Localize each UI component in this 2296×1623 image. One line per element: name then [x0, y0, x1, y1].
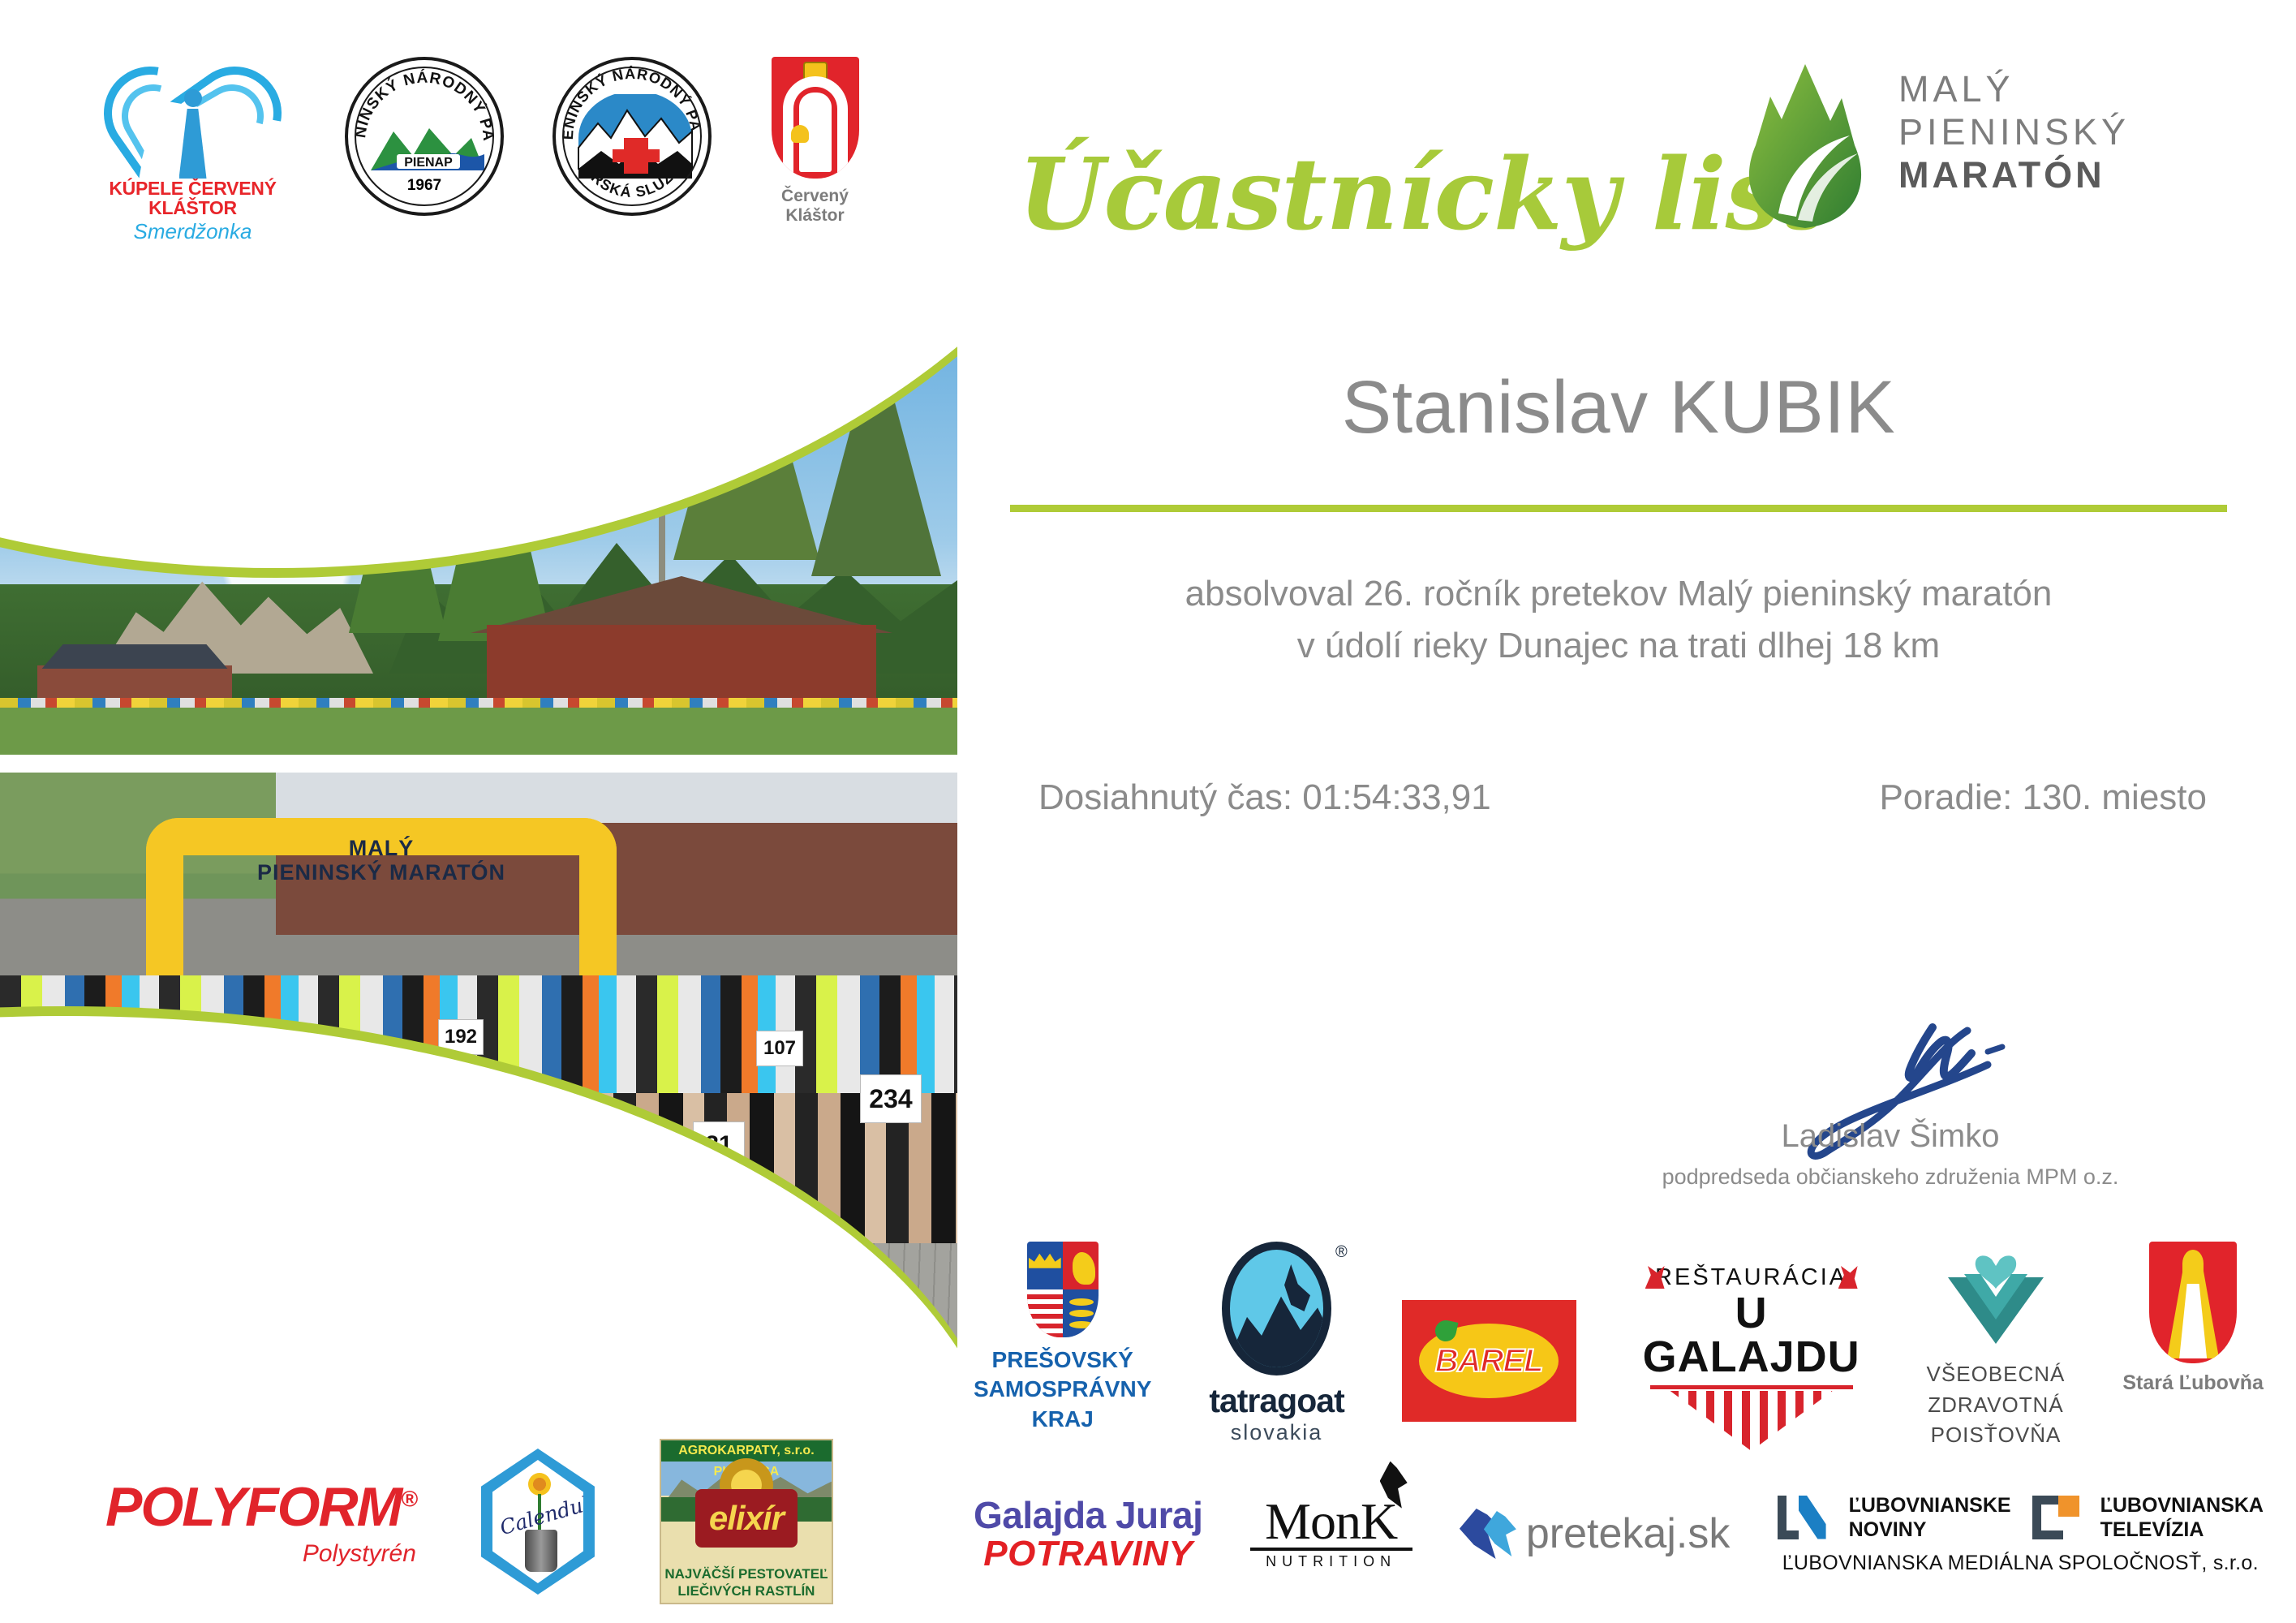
sponsor-label-line3: POISŤOVŇA [1927, 1420, 2066, 1451]
sponsor-label: POLYFORM [105, 1476, 401, 1538]
sponsor-label: MonK [1250, 1497, 1412, 1547]
logo-cerveny-klastor: Červený Kláštor [760, 57, 870, 226]
accent-divider [1010, 505, 2227, 512]
result-stats: Dosiahnutý čas: 01:54:33,91 Poradie: 130… [1010, 777, 2235, 818]
sponsor-sublabel: slovakia [1209, 1420, 1344, 1445]
brand-line2: PIENINSKÝ [1898, 110, 2130, 153]
sponsor-calendula: Calendula [481, 1449, 595, 1595]
sponsor-label: elixír [709, 1499, 784, 1538]
signature-block: Ladislav Šimko podpredseda občianskeho z… [1639, 1006, 2142, 1190]
sponsor-sublabel: Polystyrén [105, 1540, 416, 1568]
folk-ornament-icon [1670, 1391, 1833, 1451]
sponsor-lubovnianska-medialna-spolocnost: ĽUBOVNIANSKE NOVINY ĽUBOVNIANSKA TELEVÍZ… [1778, 1493, 2264, 1575]
barel-logo-plate: BAREL [1402, 1300, 1576, 1422]
sponsor-label-line1: VŠEOBECNÁ [1927, 1359, 2066, 1390]
sponsor-label: pretekaj.sk [1526, 1509, 1730, 1558]
sponsor-label-line2: NOVINY [1849, 1518, 2011, 1542]
logo-label: Červený Kláštor [760, 187, 870, 226]
registered-mark: ® [401, 1486, 416, 1511]
sponsor-monk-nutrition: MonK NUTRITION [1250, 1497, 1412, 1571]
divider [1650, 1385, 1853, 1389]
brand-line3: MARATÓN [1898, 153, 2130, 197]
ln-logo-icon [1778, 1496, 1828, 1539]
sponsor-label-line2: ZDRAVOTNÁ [1927, 1390, 2066, 1421]
runner-bib: 209 [91, 1142, 159, 1194]
sponsor-galajda-juraj-potraviny: Galajda Juraj POTRAVINY [974, 1493, 1202, 1574]
sponsor-stara-lubovna: Stará Ľubovňa [2122, 1242, 2264, 1395]
circular-text-horska-sluzba: PIENINSKÝ NÁRODNÝ PARK HORSKÁ SLUŽBA [556, 60, 708, 213]
vzp-chevron-icon [1943, 1253, 2049, 1349]
registered-mark: ® [1335, 1243, 1348, 1262]
presov-coat-of-arms-icon [1027, 1242, 1099, 1337]
sponsor-barel: BAREL [1402, 1300, 1576, 1422]
arch-text: MALÝ PIENINSKÝ MARATÓN [203, 836, 560, 885]
svg-text:HORSKÁ SLUŽBA: HORSKÁ SLUŽBA [575, 153, 689, 200]
partner-logos: KÚPELE ČERVENÝ KLÁŠTOR Smerdžonka PIENIN… [89, 57, 941, 243]
runner-bib: 107 [756, 1031, 803, 1066]
logo-pienap: PIENINSKÝ NÁRODNÝ PARK PIENAP 1967 [345, 57, 504, 216]
sponsor-label-line2: SAMOSPRÁVNY [974, 1375, 1151, 1404]
description-line-2: v údolí rieky Dunajec na trati dlhej 18 … [1018, 620, 2219, 672]
sponsor-restauracia-u-galajdu: REŠTAURÁCIA U GALAJDU [1634, 1264, 1869, 1451]
sponsor-sublabel: NUTRITION [1250, 1553, 1412, 1570]
sponsor-label-line3: KRAJ [974, 1405, 1151, 1434]
sponsor-agrokarpaty-elixir: AGROKARPATY, s.r.o. PLAVNICA elixír NAJV… [660, 1439, 833, 1604]
sponsor-bottomlabel-line2: LIEČIVÝCH RASTLÍN [661, 1582, 832, 1599]
certificate-description: absolvoval 26. ročník pretekov Malý pien… [1018, 568, 2219, 672]
photo-venue [0, 243, 957, 755]
finish-time: Dosiahnutý čas: 01:54:33,91 [1038, 777, 1491, 818]
brand-line1: MALÝ [1898, 67, 2130, 110]
runner-bib: 249 [303, 1053, 360, 1099]
mountain-river-icon: PIENAP [369, 110, 486, 174]
logo-label-line2: Smerdžonka [89, 219, 296, 244]
stara-lubovna-coat-of-arms-icon [2149, 1242, 2237, 1363]
sponsor-bottomlabel-line1: NAJVÄČŠÍ PESTOVATEĽ [661, 1565, 832, 1582]
sponsor-row-1: PREŠOVSKÝ SAMOSPRÁVNY KRAJ ® tatragoat s… [974, 1242, 2264, 1444]
leaf-mountain-icon [1728, 61, 1882, 231]
recipient-name: Stanislav KUBIK [1018, 365, 2219, 450]
sponsor-row-2: Galajda Juraj POTRAVINY MonK NUTRITION p… [974, 1461, 2264, 1607]
sponsor-footer: ĽUBOVNIANSKA MEDIÁLNA SPOLOČNOSŤ, s.r.o. [1778, 1552, 2264, 1575]
svg-text:PIENAP: PIENAP [404, 156, 453, 170]
sponsor-label-line2: POTRAVINY [974, 1534, 1202, 1574]
mountain-cross-icon [577, 94, 694, 182]
runner-bib: 147 [495, 1087, 558, 1136]
sponsor-label: Stará Ľubovňa [2122, 1371, 2264, 1395]
sponsor-label-line2: U GALAJDU [1634, 1291, 1869, 1379]
calendula-hexagon-icon: Calendula [481, 1449, 595, 1595]
page-title-text: Účastnícky list [1018, 136, 1825, 252]
sponsor-label-line1: ĽUBOVNIANSKE [1849, 1493, 2011, 1518]
sponsor-label2-line2: TELEVÍZIA [2100, 1518, 2264, 1542]
sponsor-label-line1: Galajda Juraj [974, 1493, 1202, 1537]
sponsor-polyform: POLYFORM® Polystyrén [105, 1475, 416, 1568]
logo-kupele-cerveny-klastor: KÚPELE ČERVENÝ KLÁŠTOR Smerdžonka [89, 57, 296, 244]
svg-text:PIENINSKÝ NÁRODNÝ PARK: PIENINSKÝ NÁRODNÝ PARK [348, 60, 497, 143]
placement: Poradie: 130. miesto [1879, 777, 2207, 818]
logo-label-line1: KÚPELE ČERVENÝ KLÁŠTOR [89, 179, 296, 217]
sponsor-label2-line1: ĽUBOVNIANSKA [2100, 1493, 2264, 1518]
brand-logo: MALÝ PIENINSKÝ MARATÓN [1728, 61, 2239, 235]
sponsor-label: BAREL [1435, 1343, 1543, 1380]
sponsor-tatragoat: ® tatragoat slovakia [1209, 1242, 1344, 1445]
runner-bib: 192 [438, 1019, 484, 1055]
sponsor-vseobecna-zdravotna-poistovna: VŠEOBECNÁ ZDRAVOTNÁ POISŤOVŇA [1927, 1253, 2066, 1451]
runner-bib: 31 [693, 1121, 745, 1169]
sponsor-row-bottom-left: POLYFORM® Polystyrén Calendula AGROKARPA… [105, 1428, 933, 1615]
signatory-role: podpredseda občianskeho združenia MPM o.… [1639, 1165, 2142, 1190]
goat-mountain-icon [1222, 1242, 1331, 1375]
coat-of-arms-icon [772, 57, 859, 179]
logo-year: 1967 [348, 177, 501, 195]
sponsor-label-line1: PREŠOVSKÝ [974, 1345, 1151, 1375]
sponsor-presovsky-samospravny-kraj: PREŠOVSKÝ SAMOSPRÁVNY KRAJ [974, 1242, 1151, 1434]
photo-runners: MALÝ PIENINSKÝ MARATÓN 209 74 249 147 31… [0, 773, 957, 1404]
sponsor-pretekaj-sk[interactable]: pretekaj.sk [1460, 1509, 1730, 1559]
runner-bib: 74 [261, 1097, 313, 1141]
logo-horska-sluzba: PIENINSKÝ NÁRODNÝ PARK HORSKÁ SLUŽBA [553, 57, 712, 216]
page-title: Účastnícky list [1018, 122, 1692, 268]
runner-bib: 234 [860, 1074, 922, 1123]
svg-text:PIENINSKÝ NÁRODNÝ PARK: PIENINSKÝ NÁRODNÝ PARK [556, 60, 704, 140]
signatory-name: Ladislav Šimko [1639, 1118, 2142, 1155]
elixir-label-icon: AGROKARPATY, s.r.o. PLAVNICA elixír NAJV… [660, 1439, 833, 1604]
description-line-1: absolvoval 26. ročník pretekov Malý pien… [1018, 568, 2219, 620]
certificate-page: KÚPELE ČERVENÝ KLÁŠTOR Smerdžonka PIENIN… [0, 0, 2296, 1623]
photo-collage: MALÝ PIENINSKÝ MARATÓN 209 74 249 147 31… [0, 243, 957, 1404]
sponsor-label-line1: REŠTAURÁCIA [1634, 1264, 1869, 1291]
sponsor-label: tatragoat [1209, 1382, 1344, 1420]
clover-icon [1434, 1319, 1459, 1344]
ltv-logo-icon [2032, 1496, 2079, 1539]
angel-water-icon [89, 57, 296, 179]
